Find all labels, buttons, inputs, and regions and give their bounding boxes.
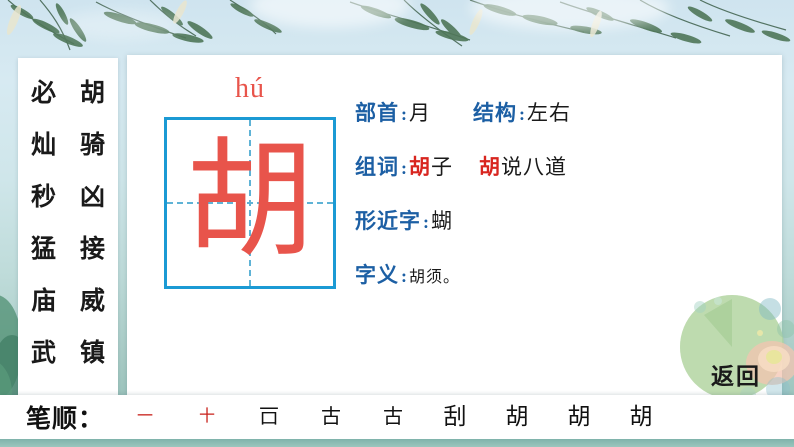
structure-value: 左右 [527, 97, 571, 127]
willow-decoration [0, 0, 794, 62]
word-column-2[interactable]: 必 灿 秒 猛 庙 武 [20, 68, 67, 380]
word1-rest: 子 [431, 151, 453, 181]
colon: : [399, 158, 409, 179]
character-display-block: hú 胡 [145, 69, 355, 289]
word-char[interactable]: 威 [80, 276, 105, 328]
stroke-step-3: 𠮛 [238, 402, 300, 432]
similar-value: 蝴 [431, 205, 453, 235]
willow-branches-svg [0, 0, 794, 62]
info-row-radical-structure: 部首 : 月 结构 : 左右 [355, 97, 770, 127]
word-char[interactable]: 骑 [80, 120, 105, 172]
stroke-step-8: 胡 [548, 402, 610, 432]
word-char[interactable]: 武 [31, 328, 56, 380]
word-char[interactable]: 必 [31, 68, 56, 120]
structure-label: 结构 [473, 97, 517, 127]
stroke-step-5: 古 [362, 402, 424, 432]
word-char[interactable]: 镇 [80, 328, 105, 380]
colon: : [399, 266, 409, 287]
colon: : [399, 104, 409, 125]
word-column-1[interactable]: 胡 骑 凶 接 威 镇 [69, 68, 116, 380]
words-label: 组词 [355, 151, 399, 181]
word-char[interactable]: 接 [80, 224, 105, 276]
main-character: 胡 [167, 120, 333, 286]
meaning-value: 胡须。 [409, 263, 460, 287]
word-char[interactable]: 秒 [31, 172, 56, 224]
tianzige-grid: 胡 [164, 117, 336, 289]
word-list-panel[interactable]: 胡 骑 凶 接 威 镇 必 灿 秒 猛 庙 武 [18, 58, 118, 395]
colon: : [517, 104, 527, 125]
stroke-step-9: 胡 [610, 402, 672, 432]
meaning-label: 字义 [355, 259, 399, 289]
stroke-order-strip: 笔顺： 一 十 𠮛 古 古 刮 胡 胡 胡 [0, 395, 794, 439]
lesson-slide: 胡 骑 凶 接 威 镇 必 灿 秒 猛 庙 武 hú 胡 部 [0, 0, 794, 447]
character-info-block: 部首 : 月 结构 : 左右 组词 : 胡 子 胡 说八道 形近字 : 蝴 [355, 97, 770, 313]
radical-label: 部首 [355, 97, 399, 127]
pinyin-text: hú [145, 69, 355, 109]
bottom-accent-bar [0, 439, 794, 447]
stroke-step-6: 刮 [424, 402, 486, 432]
word2-rest: 说八道 [501, 151, 567, 181]
word2-highlight-char: 胡 [479, 151, 501, 181]
info-row-similar: 形近字 : 蝴 [355, 205, 770, 235]
stroke-order-label: 笔顺： [26, 399, 104, 435]
similar-label: 形近字 [355, 205, 421, 235]
word-char[interactable]: 庙 [31, 276, 56, 328]
word-char[interactable]: 灿 [31, 120, 56, 172]
word-char[interactable]: 猛 [31, 224, 56, 276]
radical-value: 月 [409, 97, 431, 127]
word1-highlight-char: 胡 [409, 151, 431, 181]
stroke-step-7: 胡 [486, 402, 548, 432]
stroke-step-4: 古 [300, 402, 362, 432]
return-button[interactable]: 返回 [700, 357, 772, 391]
character-detail-card: hú 胡 部首 : 月 结构 : 左右 组词 : 胡 子 [127, 55, 782, 395]
stroke-step-1: 一 [114, 402, 176, 432]
stroke-step-2: 十 [176, 402, 238, 432]
word-char[interactable]: 胡 [80, 68, 105, 120]
stroke-order-sequence: 一 十 𠮛 古 古 刮 胡 胡 胡 [114, 402, 672, 432]
info-row-meaning: 字义 : 胡须。 [355, 259, 770, 289]
word-char[interactable]: 凶 [80, 172, 105, 224]
info-row-words: 组词 : 胡 子 胡 说八道 [355, 151, 770, 181]
colon: : [421, 212, 431, 233]
